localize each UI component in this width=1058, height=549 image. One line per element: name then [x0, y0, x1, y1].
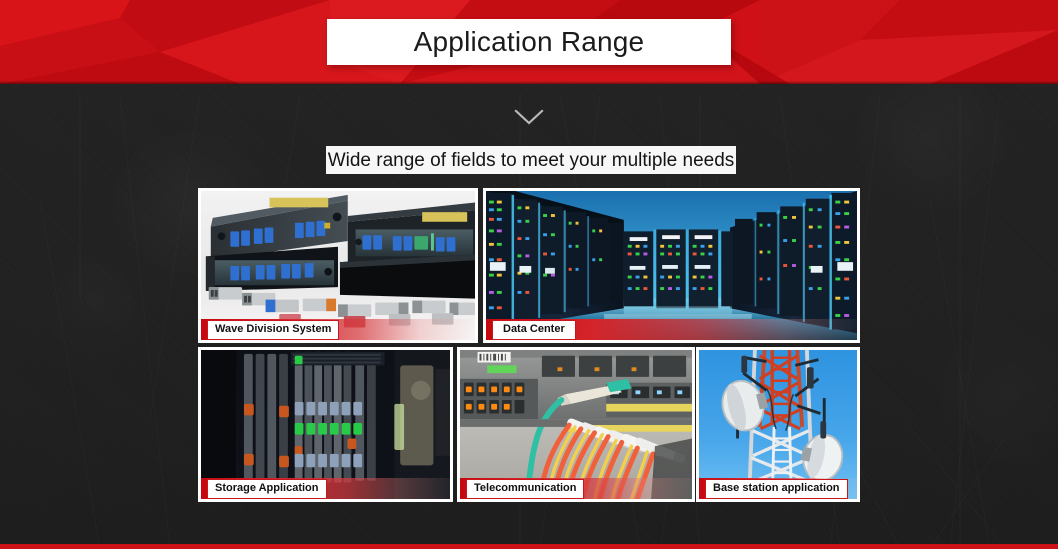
subtitle-box: Wide range of fields to meet your multip… — [326, 146, 736, 174]
gallery-item-caption: Telecommunication — [466, 479, 584, 499]
chevron-down-icon — [514, 108, 544, 126]
application-gallery: Wave Division System — [198, 188, 860, 502]
gallery-item-telecommunication[interactable]: Telecommunication — [457, 347, 695, 502]
gallery-item-data-center[interactable]: Data Center — [483, 188, 860, 343]
gallery-item-media: Telecommunication — [460, 350, 692, 499]
gallery-item-media: Wave Division System — [201, 191, 475, 340]
gallery-item-caption: Base station application — [705, 479, 848, 499]
gallery-item-caption-bar: Wave Division System — [201, 319, 475, 340]
gallery-item-caption-bar: Telecommunication — [460, 478, 692, 499]
page-title: Application Range — [414, 28, 645, 56]
gallery-item-base-station-application[interactable]: Base station application — [696, 347, 860, 502]
base-station-application-photo — [699, 350, 857, 499]
gallery-item-caption: Wave Division System — [207, 320, 339, 340]
telecommunication-photo — [460, 350, 692, 499]
gallery-item-media: Storage Application — [201, 350, 450, 499]
page-title-box: Application Range — [327, 19, 731, 65]
gallery-item-caption-bar: Data Center — [486, 319, 857, 340]
footer-rule — [0, 544, 1058, 549]
gallery-item-caption: Data Center — [492, 320, 576, 340]
gallery-item-caption-bar: Base station application — [699, 478, 857, 499]
gallery-item-caption: Storage Application — [207, 479, 327, 499]
gallery-item-wave-division-system[interactable]: Wave Division System — [198, 188, 478, 343]
subtitle: Wide range of fields to meet your multip… — [328, 151, 735, 170]
gallery-item-media: Data Center — [486, 191, 857, 340]
wave-division-system-photo — [201, 191, 475, 340]
gallery-item-media: Base station application — [699, 350, 857, 499]
application-range-page: Application Range Wide range of fields t… — [0, 0, 1058, 549]
gallery-item-storage-application[interactable]: Storage Application — [198, 347, 453, 502]
banner-shadow — [0, 81, 1058, 84]
storage-application-photo — [201, 350, 450, 499]
data-center-photo — [486, 191, 857, 340]
gallery-item-caption-bar: Storage Application — [201, 478, 450, 499]
